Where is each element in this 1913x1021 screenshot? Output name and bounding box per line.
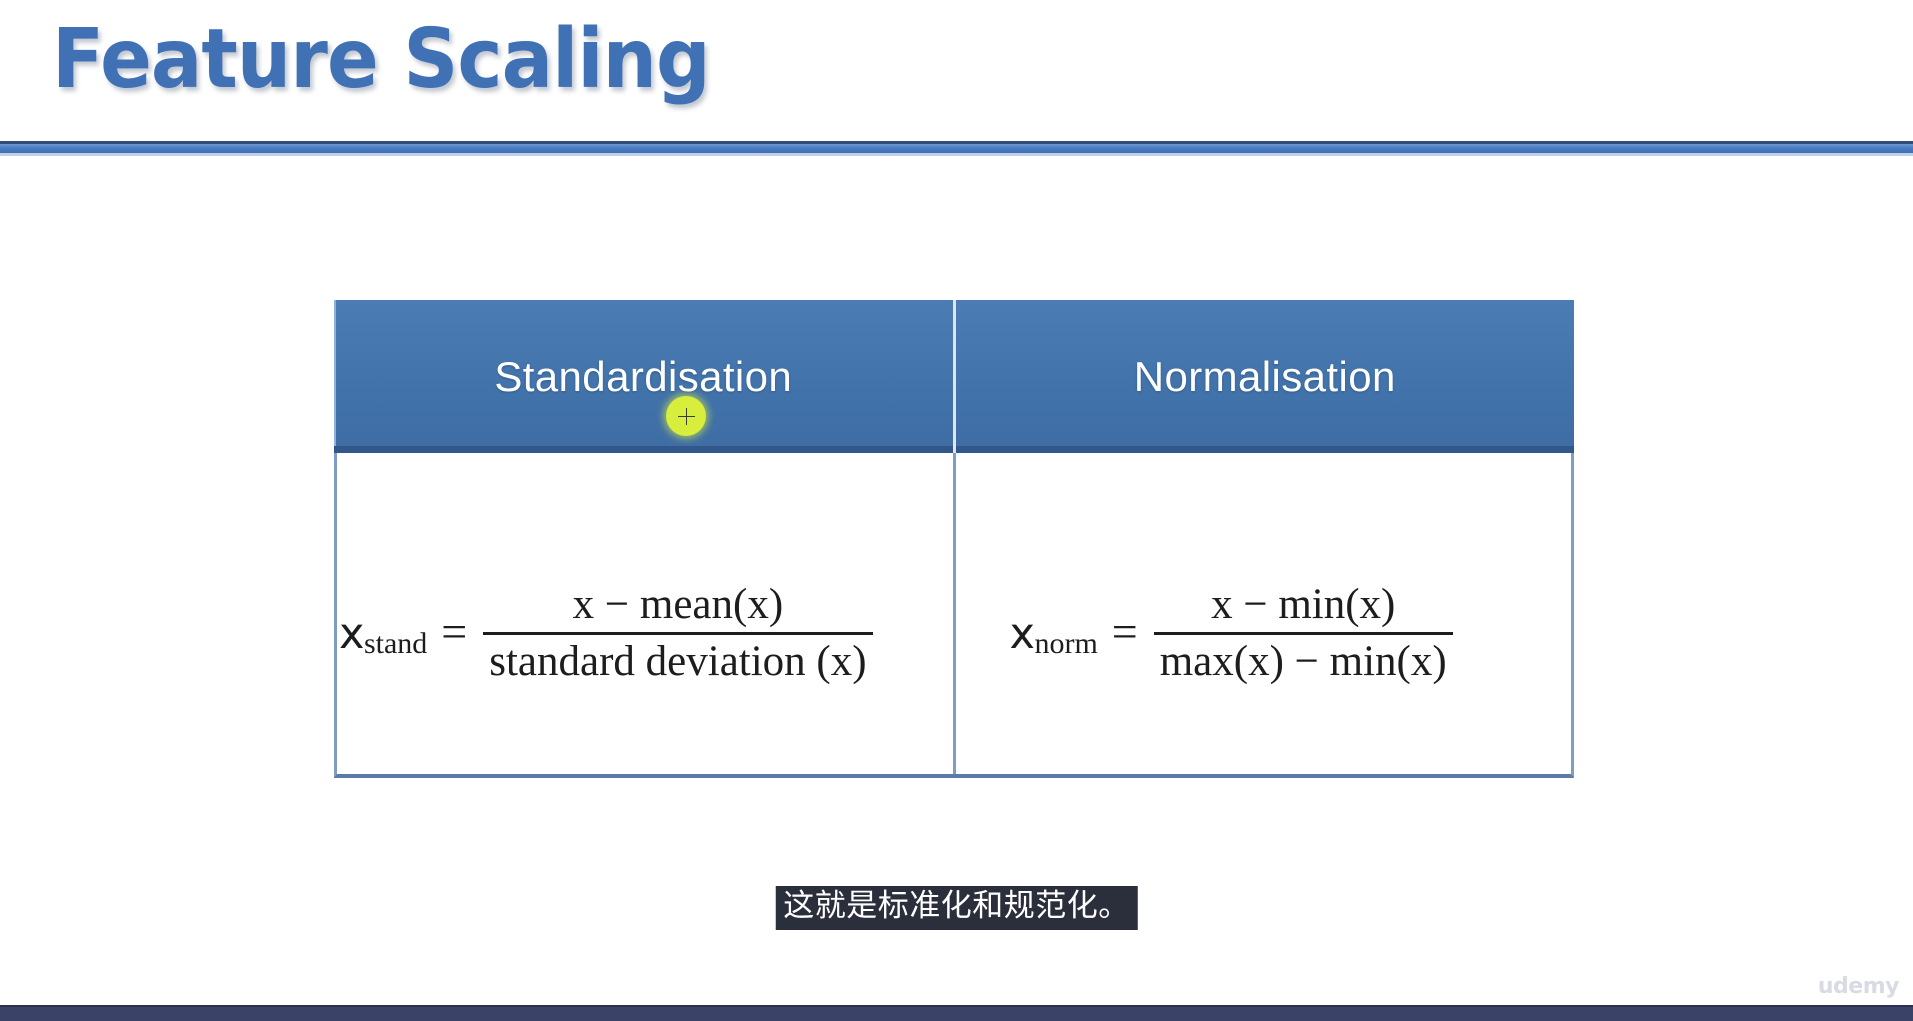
fraction-bar xyxy=(1154,632,1453,635)
slide-canvas: Feature Scaling Standardisation Normalis… xyxy=(0,0,1913,1021)
fraction-bar xyxy=(483,632,872,635)
page-title: Feature Scaling xyxy=(52,12,710,109)
formula-standardisation-denominator: standard deviation (x) xyxy=(483,638,872,686)
formula-normalisation-relation: = xyxy=(1112,605,1138,658)
formula-standardisation-numerator: x − mean(x) xyxy=(567,581,790,629)
table-header-cell-normalisation: Normalisation xyxy=(956,300,1575,453)
table-header-row: Standardisation Normalisation xyxy=(334,300,1574,453)
formula-standardisation-fraction: x − mean(x) standard deviation (x) xyxy=(483,581,872,686)
crosshair-glyph xyxy=(678,408,695,425)
formula-normalisation: xnorm = x − min(x) max(x) − min(x) xyxy=(1010,581,1453,686)
formula-normalisation-fraction: x − min(x) max(x) − min(x) xyxy=(1154,581,1453,686)
table-header-label-normalisation: Normalisation xyxy=(1134,353,1396,401)
crosshair-cursor-icon xyxy=(666,396,706,436)
subtitle-caption: 这就是标准化和规范化。 xyxy=(775,886,1138,930)
formula-standardisation-relation: = xyxy=(441,605,467,658)
formula-normalisation-lhs-subscript: norm xyxy=(1034,627,1097,661)
video-player-bar[interactable] xyxy=(0,1005,1913,1021)
comparison-table: Standardisation Normalisation xstand = x… xyxy=(334,300,1574,778)
formula-normalisation-numerator: x − min(x) xyxy=(1205,581,1401,629)
udemy-watermark: udemy xyxy=(1818,974,1899,999)
table-header-label-standardisation: Standardisation xyxy=(494,353,792,401)
table-body-cell-normalisation: xnorm = x − min(x) max(x) − min(x) xyxy=(956,453,1572,774)
subtitle-caption-text: 这就是标准化和规范化。 xyxy=(783,888,1130,925)
formula-standardisation-lhs-variable: x xyxy=(339,609,364,659)
formula-normalisation-denominator: max(x) − min(x) xyxy=(1154,638,1453,686)
title-divider xyxy=(0,141,1913,156)
table-header-cell-standardisation: Standardisation xyxy=(334,300,956,453)
formula-standardisation-lhs-subscript: stand xyxy=(364,627,427,661)
formula-standardisation: xstand = x − mean(x) standard deviation … xyxy=(339,581,873,686)
table-body-cell-standardisation: xstand = x − mean(x) standard deviation … xyxy=(337,453,956,774)
formula-normalisation-lhs-variable: x xyxy=(1010,609,1035,659)
divider-line-middle xyxy=(0,144,1913,153)
table-body-row: xstand = x − mean(x) standard deviation … xyxy=(334,453,1574,778)
divider-line-bottom xyxy=(0,153,1913,156)
